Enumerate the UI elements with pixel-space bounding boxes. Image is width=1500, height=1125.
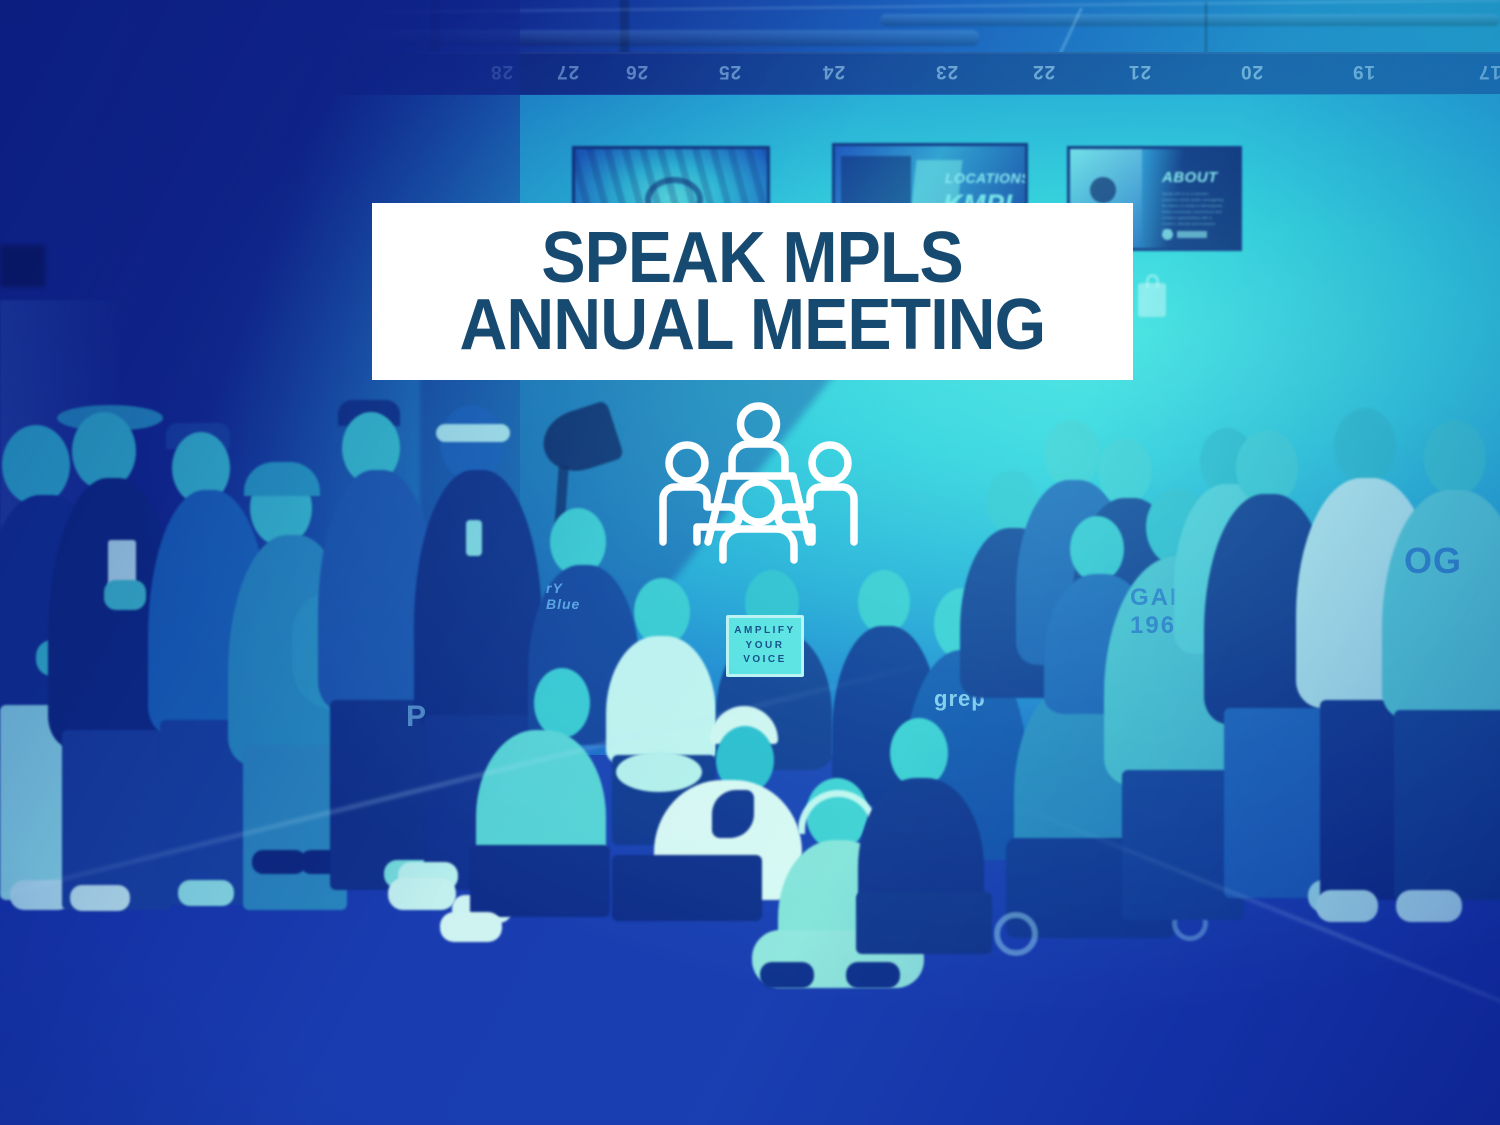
poster-about-label: ABOUT: [1162, 169, 1218, 186]
apparel-text: OG: [1404, 540, 1462, 582]
beam-number: 21: [1128, 60, 1151, 82]
title-banner: SPEAK MPLS ANNUAL MEETING: [372, 203, 1133, 380]
sign-line-2: YOUR: [746, 639, 785, 654]
beam-number: 27: [556, 60, 579, 82]
sign-line-3: VOICE: [743, 653, 787, 668]
apparel-text: rY Blue: [546, 580, 580, 612]
meeting-table-people-icon: [651, 400, 866, 565]
apparel-text: P: [406, 700, 427, 734]
poster-canvas: 28 27 26 25 24 23 22 21 20 19 17: [0, 0, 1500, 1125]
poster-about-body: Speak MPLS is a member-powered media cen…: [1162, 191, 1224, 233]
beam-number: 22: [1032, 60, 1055, 82]
sign-line-1: AMPLIFY: [734, 624, 795, 639]
beam-number: 24: [822, 60, 845, 82]
page-title-line-1: SPEAK MPLS: [542, 225, 963, 291]
wall-hanging-bag: [1138, 283, 1166, 317]
ceiling-duct: [880, 14, 1500, 26]
wall-vent: [0, 245, 45, 287]
beam-number: 19: [1352, 60, 1375, 82]
wall-hanging-bag-handle: [1146, 274, 1159, 288]
beam-number: 23: [935, 60, 958, 82]
beam-number: 17: [1478, 60, 1500, 82]
poster-locations-label: LOCATIONS: [945, 170, 1028, 186]
page-title-line-2: ANNUAL MEETING: [460, 292, 1046, 358]
beam-number: 26: [625, 60, 648, 82]
beam-number: 20: [1240, 60, 1263, 82]
beam-number: 25: [718, 60, 741, 82]
round-table: [616, 752, 702, 792]
held-sign: AMPLIFY YOUR VOICE: [726, 615, 804, 677]
